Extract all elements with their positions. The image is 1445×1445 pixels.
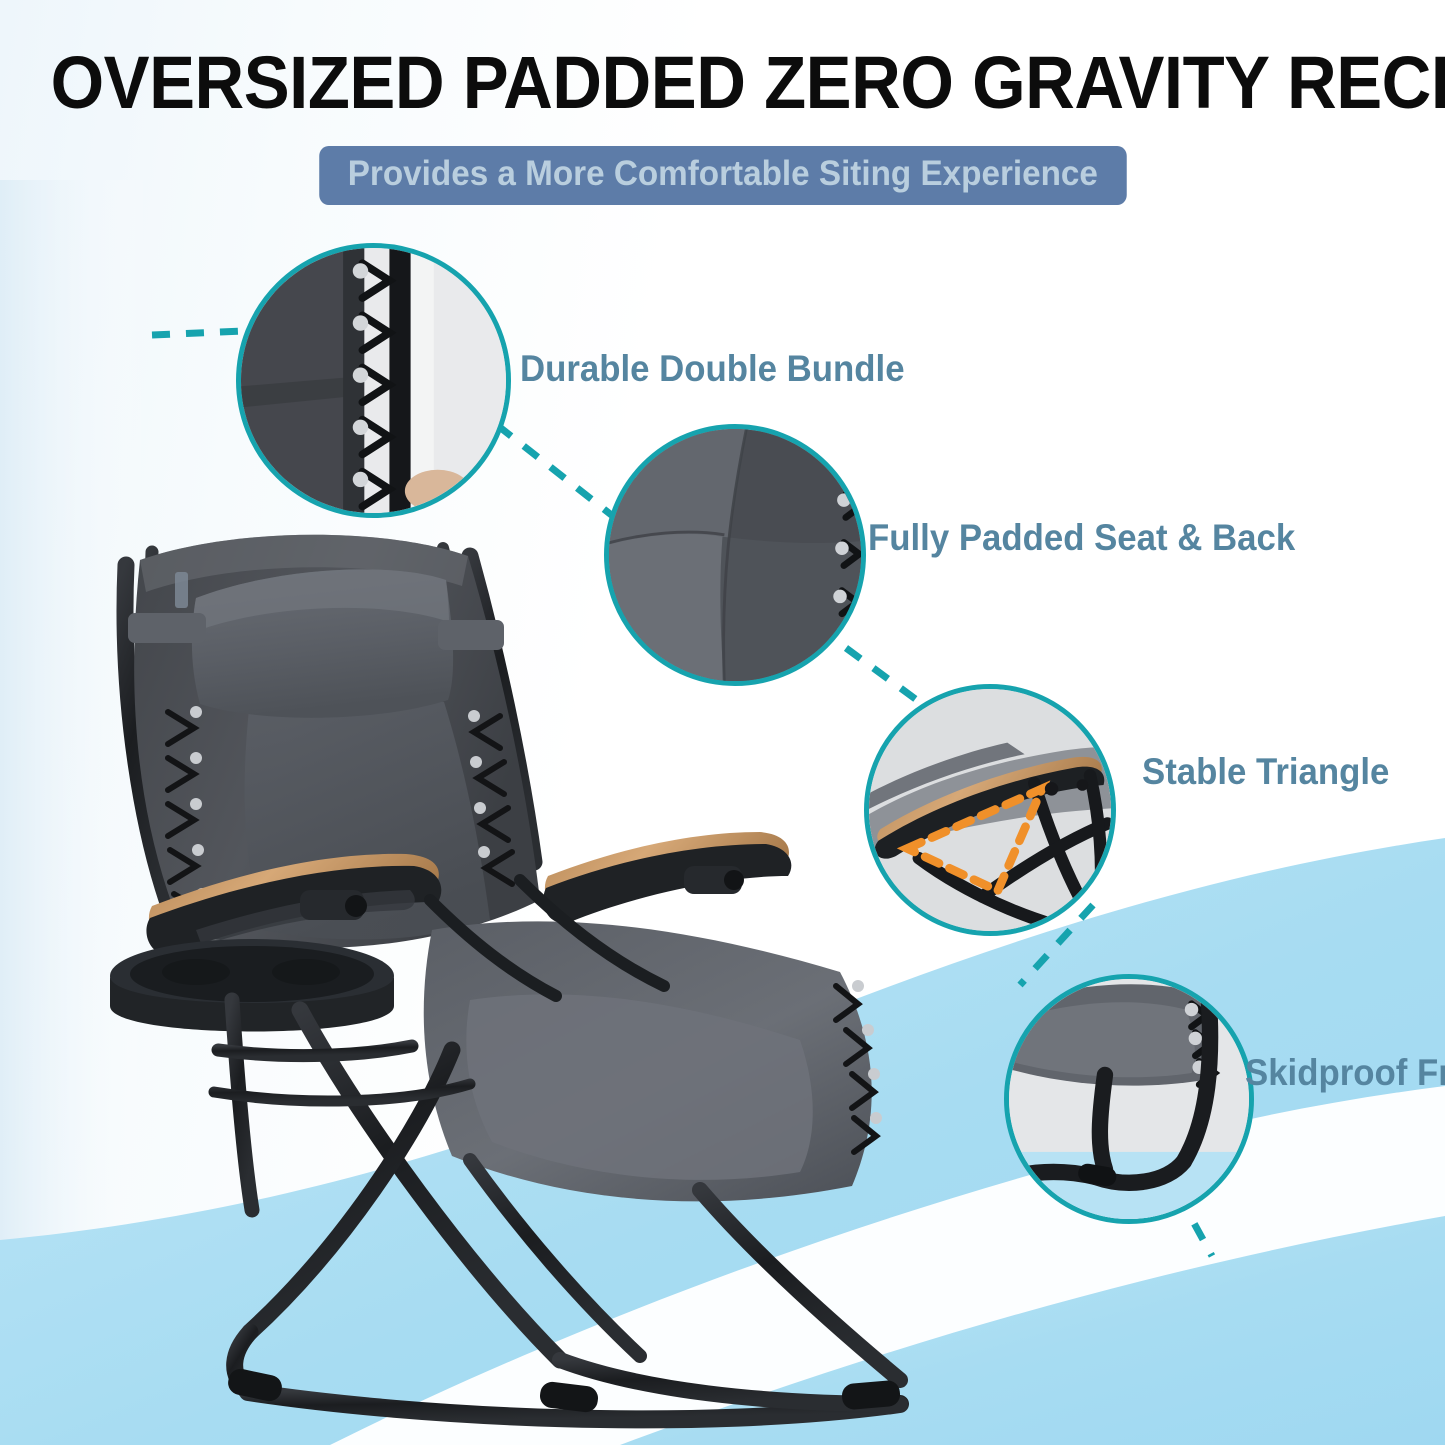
infographic-canvas: OVERSIZED PADDED ZERO GRAVITY RECLINER P…	[0, 0, 1445, 1445]
feature-label-stable-triangle: Stable Triangle	[1142, 752, 1389, 792]
callout-triangle-image	[864, 684, 1116, 936]
callout-skid-image	[1004, 974, 1254, 1224]
callout-stable-triangle	[864, 684, 1116, 936]
feature-label-fully-padded-seat-back: Fully Padded Seat & Back	[868, 518, 1295, 558]
callout-durable-double-bundle	[236, 243, 511, 518]
callout-padded-image	[604, 424, 866, 686]
headrest-strap-left	[128, 613, 206, 643]
armrest-right	[543, 832, 791, 923]
feature-label-durable-double-bundle: Durable Double Bundle	[520, 349, 905, 389]
callout-bundle-image	[236, 243, 511, 518]
feature-label-skidproof-frame: Skidproof Frame	[1245, 1053, 1445, 1093]
cup-holder-tray	[110, 939, 394, 1032]
callout-skidproof-frame	[1004, 974, 1254, 1224]
product-image-recliner	[0, 0, 1445, 1445]
brand-tag	[175, 572, 188, 608]
callout-fully-padded-seat-back	[604, 424, 866, 686]
headrest-strap-right	[438, 620, 504, 650]
